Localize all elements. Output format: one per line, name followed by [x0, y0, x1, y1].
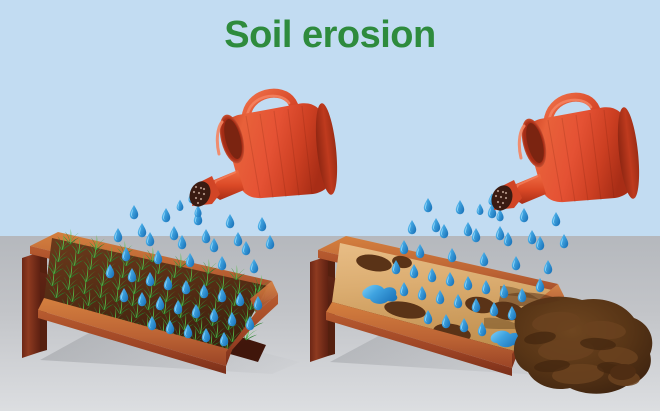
illustration-canvas: Soil erosion [0, 0, 660, 411]
soil-erosion-illustration [0, 0, 660, 411]
